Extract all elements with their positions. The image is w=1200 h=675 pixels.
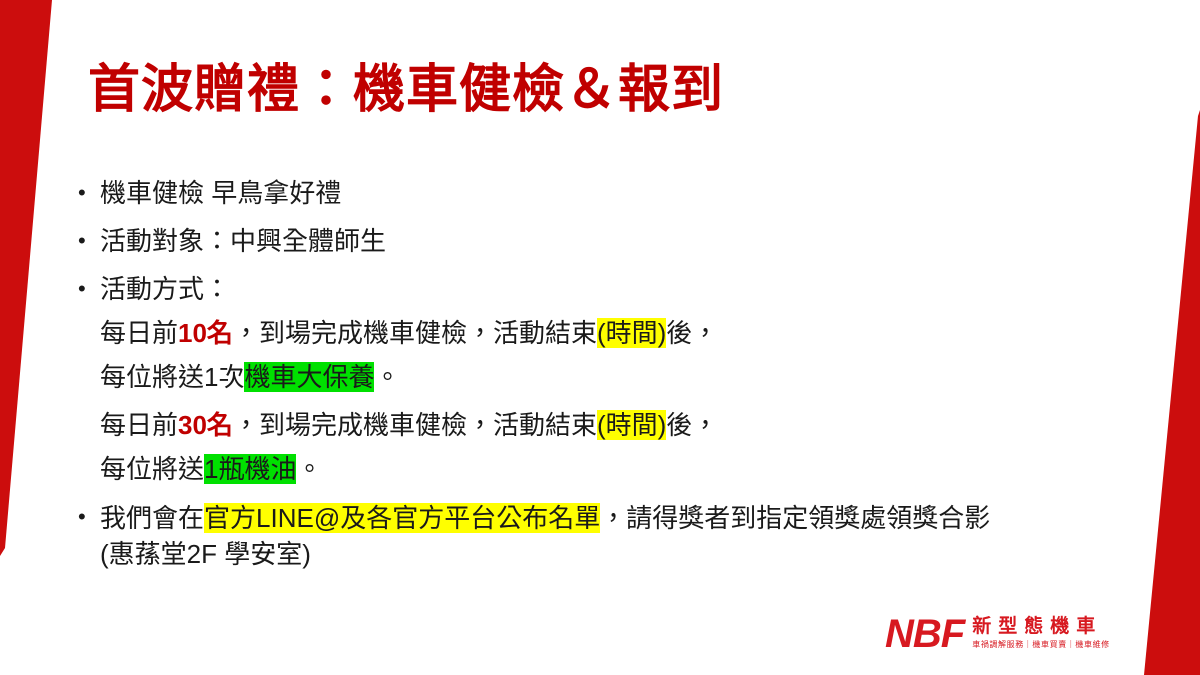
final-prefix: 我們會在 bbox=[100, 503, 204, 533]
list-item: • 我們會在官方LINE@及各官方平台公布名單，請得獎者到指定領獎處領獎合影(惠… bbox=[78, 500, 1088, 572]
offer-gift-prefix: 每位將送1次 bbox=[100, 362, 244, 392]
logo-brand-name: 新型態機車 bbox=[972, 617, 1110, 637]
page-title: 首波贈禮：機車健檢＆報到 bbox=[88, 62, 724, 119]
list-item: • 活動對象：中興全體師生 bbox=[78, 224, 1088, 258]
offer-time-placeholder: (時間) bbox=[597, 318, 666, 348]
bullet-text: 機車健檢 早鳥拿好禮 bbox=[100, 176, 1088, 210]
offer-suffix: 後， bbox=[666, 318, 718, 348]
offer-gift: 機車大保養 bbox=[244, 362, 374, 392]
offer-count: 30名 bbox=[178, 410, 233, 440]
offer-prefix: 每日前 bbox=[100, 318, 178, 348]
offer-block-2-line-2: 每位將送1瓶機油。 bbox=[100, 452, 1088, 486]
list-item: • 機車健檢 早鳥拿好禮 bbox=[78, 176, 1088, 210]
logo-wordmark: NBF bbox=[885, 614, 964, 654]
offer-gift: 1瓶機油 bbox=[204, 454, 296, 484]
final-highlight: 官方LINE@及各官方平台公布名單 bbox=[204, 503, 600, 533]
offer-count: 10名 bbox=[178, 318, 233, 348]
bullet-marker-icon: • bbox=[78, 176, 100, 210]
offer-gift-suffix: 。 bbox=[374, 362, 400, 392]
offer-gift-prefix: 每位將送 bbox=[100, 454, 204, 484]
offer-time-placeholder: (時間) bbox=[597, 410, 666, 440]
bullet-text: 活動對象：中興全體師生 bbox=[100, 224, 1088, 258]
offer-suffix: 後， bbox=[666, 410, 718, 440]
offer-block-2-line-1: 每日前30名，到場完成機車健檢，活動結束(時間)後， bbox=[100, 408, 1088, 442]
bullet-marker-icon: • bbox=[78, 272, 100, 306]
offer-block-1-line-2: 每位將送1次機車大保養。 bbox=[100, 360, 1088, 394]
nbf-logo: NBF 新型態機車 車禍調解服務｜機車買賣｜機車維修 bbox=[885, 608, 1140, 660]
offer-middle: ，到場完成機車健檢，活動結束 bbox=[233, 318, 597, 348]
offer-prefix: 每日前 bbox=[100, 410, 178, 440]
logo-tagline: 車禍調解服務｜機車買賣｜機車維修 bbox=[972, 639, 1110, 650]
bullet-marker-icon: • bbox=[78, 500, 100, 534]
bullet-marker-icon: • bbox=[78, 224, 100, 258]
slide-canvas: 首波贈禮：機車健檢＆報到 • 機車健檢 早鳥拿好禮 • 活動對象：中興全體師生 … bbox=[0, 0, 1200, 675]
list-item: • 活動方式： bbox=[78, 272, 1088, 306]
offer-gift-suffix: 。 bbox=[296, 454, 322, 484]
final-suffix: ，請得獎者到指定領獎處領獎合影 bbox=[600, 503, 990, 533]
decorative-left-red-wedge bbox=[0, 0, 90, 560]
offer-block-1-line-1: 每日前10名，到場完成機車健檢，活動結束(時間)後， bbox=[100, 316, 1088, 350]
offer-middle: ，到場完成機車健檢，活動結束 bbox=[233, 410, 597, 440]
logo-text-group: 新型態機車 車禍調解服務｜機車買賣｜機車維修 bbox=[972, 617, 1110, 650]
decorative-right-red-wedge bbox=[1140, 110, 1200, 675]
bullet-text: 活動方式： bbox=[100, 272, 1088, 306]
final-bullet-text: 我們會在官方LINE@及各官方平台公布名單，請得獎者到指定領獎處領獎合影(惠蓀堂… bbox=[100, 500, 1088, 572]
slide-body: • 機車健檢 早鳥拿好禮 • 活動對象：中興全體師生 • 活動方式： 每日前10… bbox=[78, 176, 1088, 586]
final-location: (惠蓀堂2F 學安室) bbox=[100, 539, 311, 569]
